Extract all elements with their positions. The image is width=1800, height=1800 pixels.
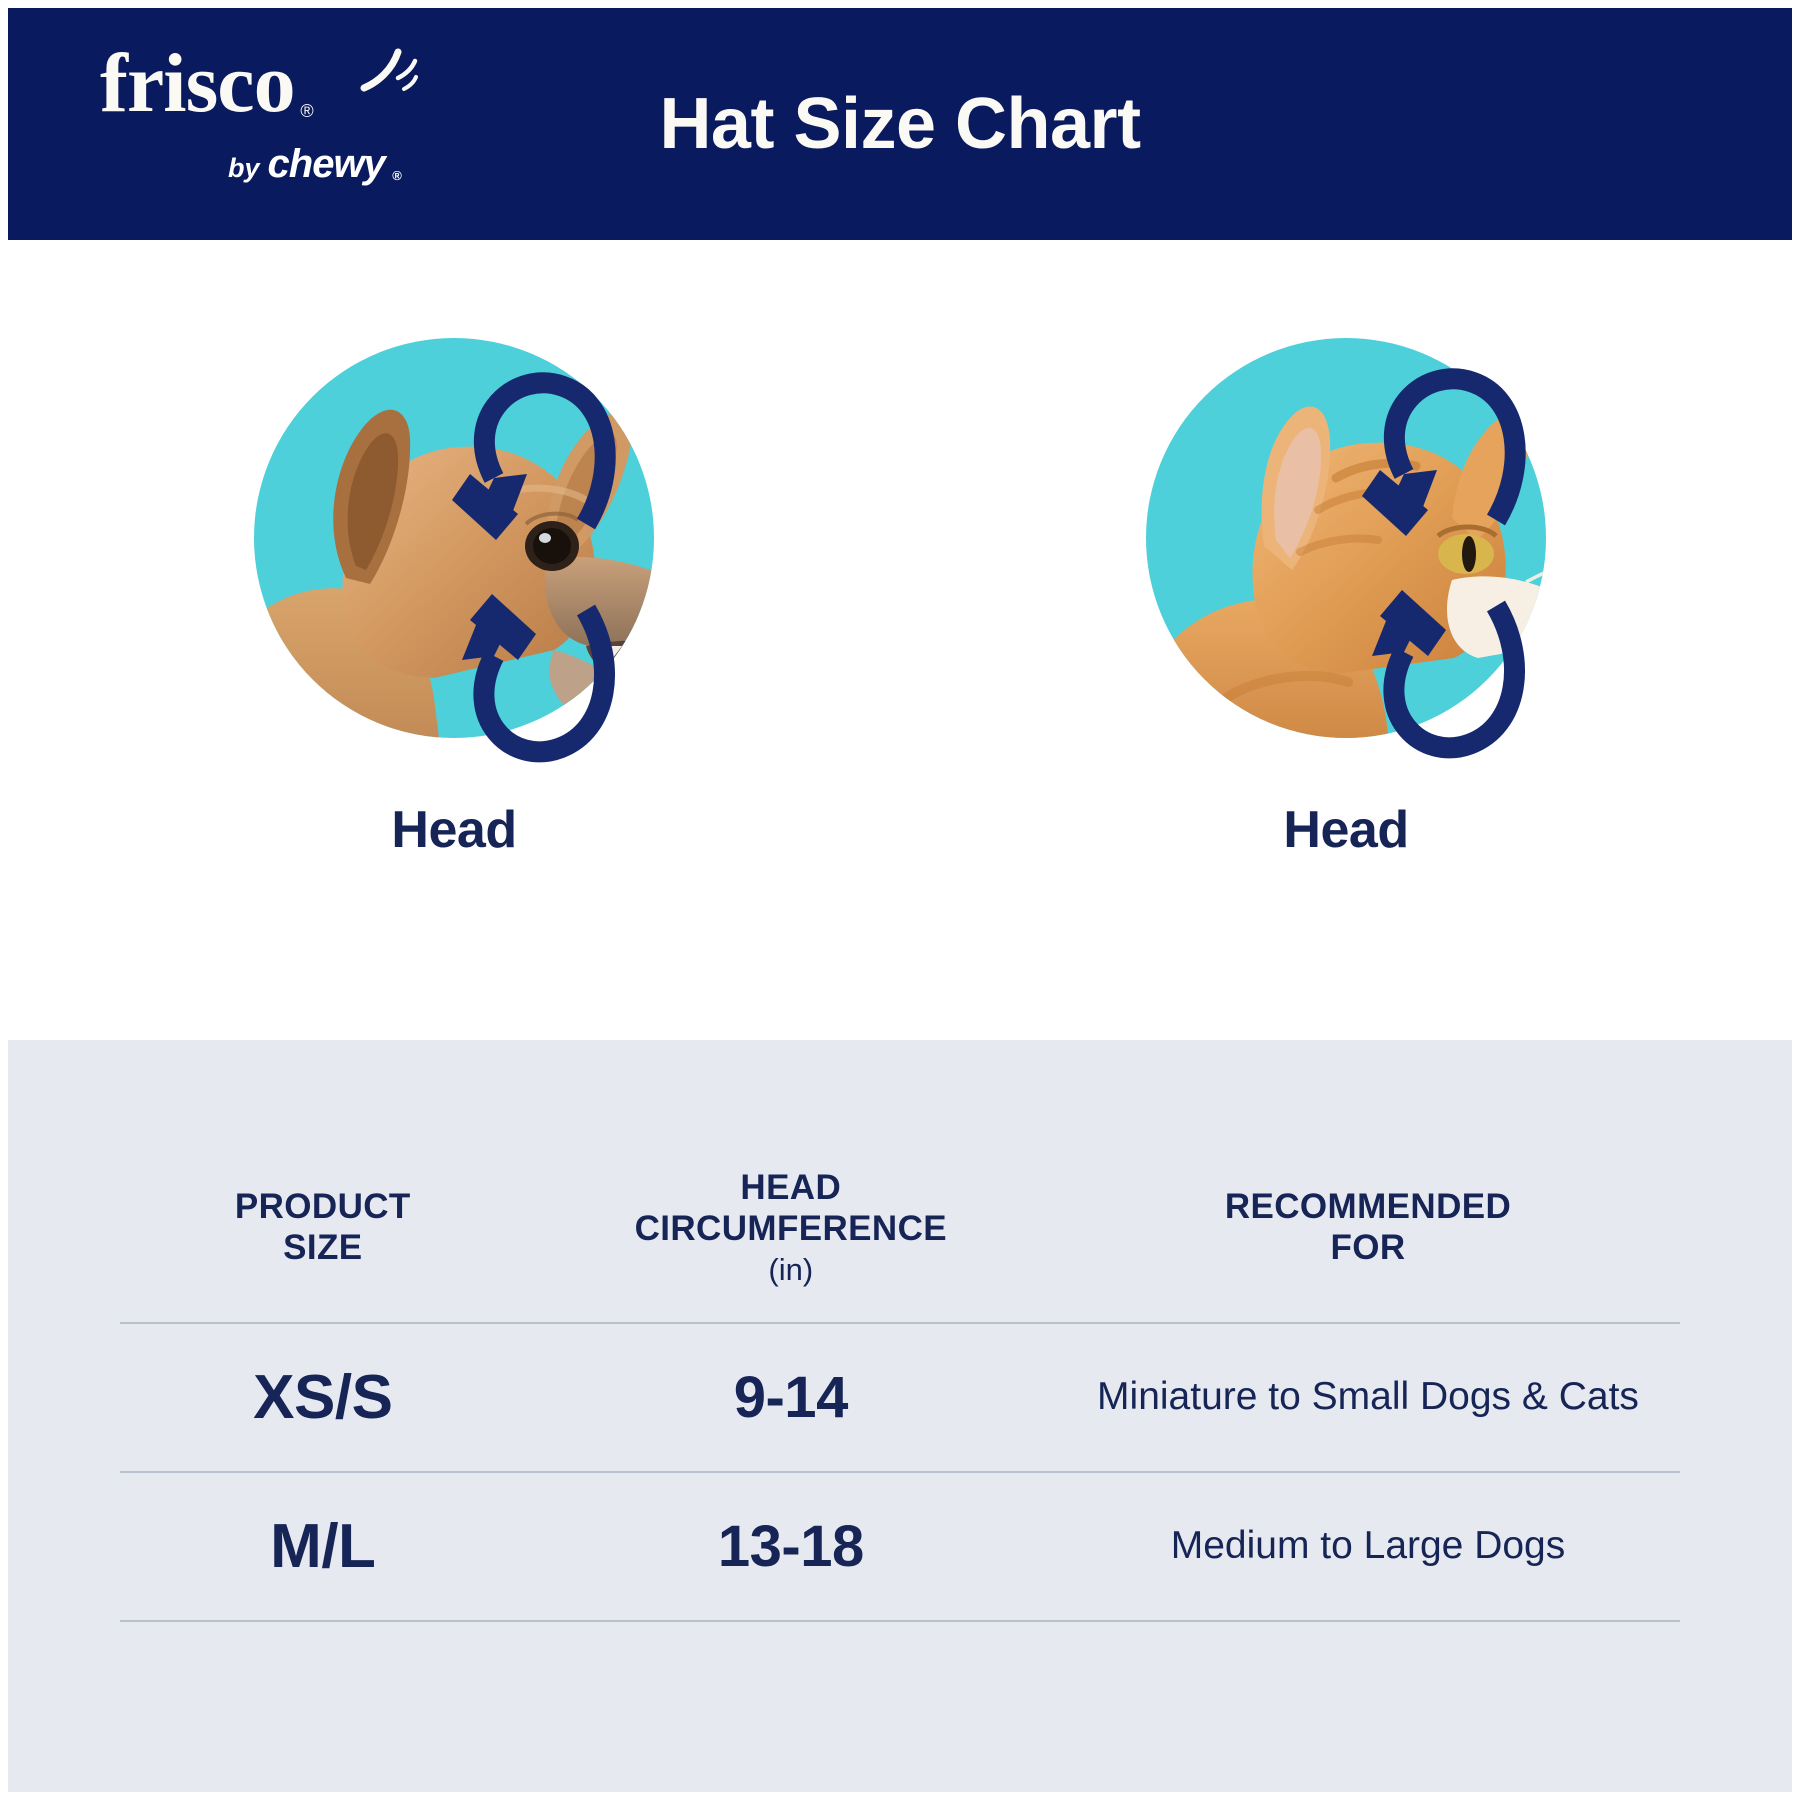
- registered-trademark-icon: ®: [300, 102, 312, 120]
- size-table: PRODUCT SIZE HEAD CIRCUMFERENCE (in) REC…: [120, 1168, 1680, 1622]
- column-header-product-size: PRODUCT SIZE: [120, 1168, 526, 1323]
- measurement-guide-panel: Head: [8, 240, 1792, 1040]
- cell-recommended-for: Miniature to Small Dogs & Cats: [1056, 1323, 1680, 1472]
- cell-head-circumference: 9-14: [526, 1323, 1056, 1472]
- dog-illustration: [194, 278, 714, 778]
- size-chart-page: Hat Size Chart frisco® by chewy®: [0, 0, 1800, 1800]
- page-header: Hat Size Chart frisco® by chewy®: [8, 8, 1792, 240]
- size-table-header-row: PRODUCT SIZE HEAD CIRCUMFERENCE (in) REC…: [120, 1168, 1680, 1323]
- table-row: M/L 13-18 Medium to Large Dogs: [120, 1472, 1680, 1621]
- size-table-head: PRODUCT SIZE HEAD CIRCUMFERENCE (in) REC…: [120, 1168, 1680, 1323]
- column-header-unit: (in): [526, 1252, 1056, 1288]
- dog-head-measure-arrow-icon: [194, 278, 714, 778]
- frisco-logo: frisco® by chewy®: [100, 42, 430, 202]
- column-header-line1: RECOMMENDED: [1225, 1187, 1511, 1226]
- cat-illustration: [1086, 278, 1606, 778]
- column-header-line2: SIZE: [283, 1228, 362, 1267]
- column-header-line2: FOR: [1330, 1228, 1405, 1267]
- chewy-registered-trademark-icon: ®: [392, 168, 401, 183]
- column-header-head-circumference: HEAD CIRCUMFERENCE (in): [526, 1168, 1056, 1323]
- cell-head-circumference: 13-18: [526, 1472, 1056, 1621]
- cat-head-measure-arrow-icon: [1086, 278, 1606, 778]
- cell-recommended-for: Medium to Large Dogs: [1056, 1472, 1680, 1621]
- cat-measure-label: Head: [1283, 800, 1408, 860]
- cell-product-size: M/L: [120, 1472, 526, 1621]
- column-header-line1: HEAD: [740, 1168, 841, 1207]
- size-table-panel: PRODUCT SIZE HEAD CIRCUMFERENCE (in) REC…: [8, 1040, 1792, 1792]
- column-header-line2: CIRCUMFERENCE: [635, 1209, 947, 1248]
- logo-by-text: by: [228, 153, 260, 184]
- swoosh-icon: [358, 48, 418, 96]
- column-header-line1: PRODUCT: [235, 1187, 411, 1226]
- measurement-guide-dog: Head: [8, 240, 900, 1040]
- dog-measure-label: Head: [391, 800, 516, 860]
- size-table-body: XS/S 9-14 Miniature to Small Dogs & Cats…: [120, 1323, 1680, 1621]
- cell-product-size: XS/S: [120, 1323, 526, 1472]
- measurement-guide-cat: Head: [900, 240, 1792, 1040]
- logo-wordmark: frisco®: [100, 42, 295, 126]
- column-header-recommended-for: RECOMMENDED FOR: [1056, 1168, 1680, 1323]
- logo-byline: by chewy®: [228, 142, 385, 187]
- table-row: XS/S 9-14 Miniature to Small Dogs & Cats: [120, 1323, 1680, 1472]
- logo-chewy-text: chewy®: [268, 142, 385, 187]
